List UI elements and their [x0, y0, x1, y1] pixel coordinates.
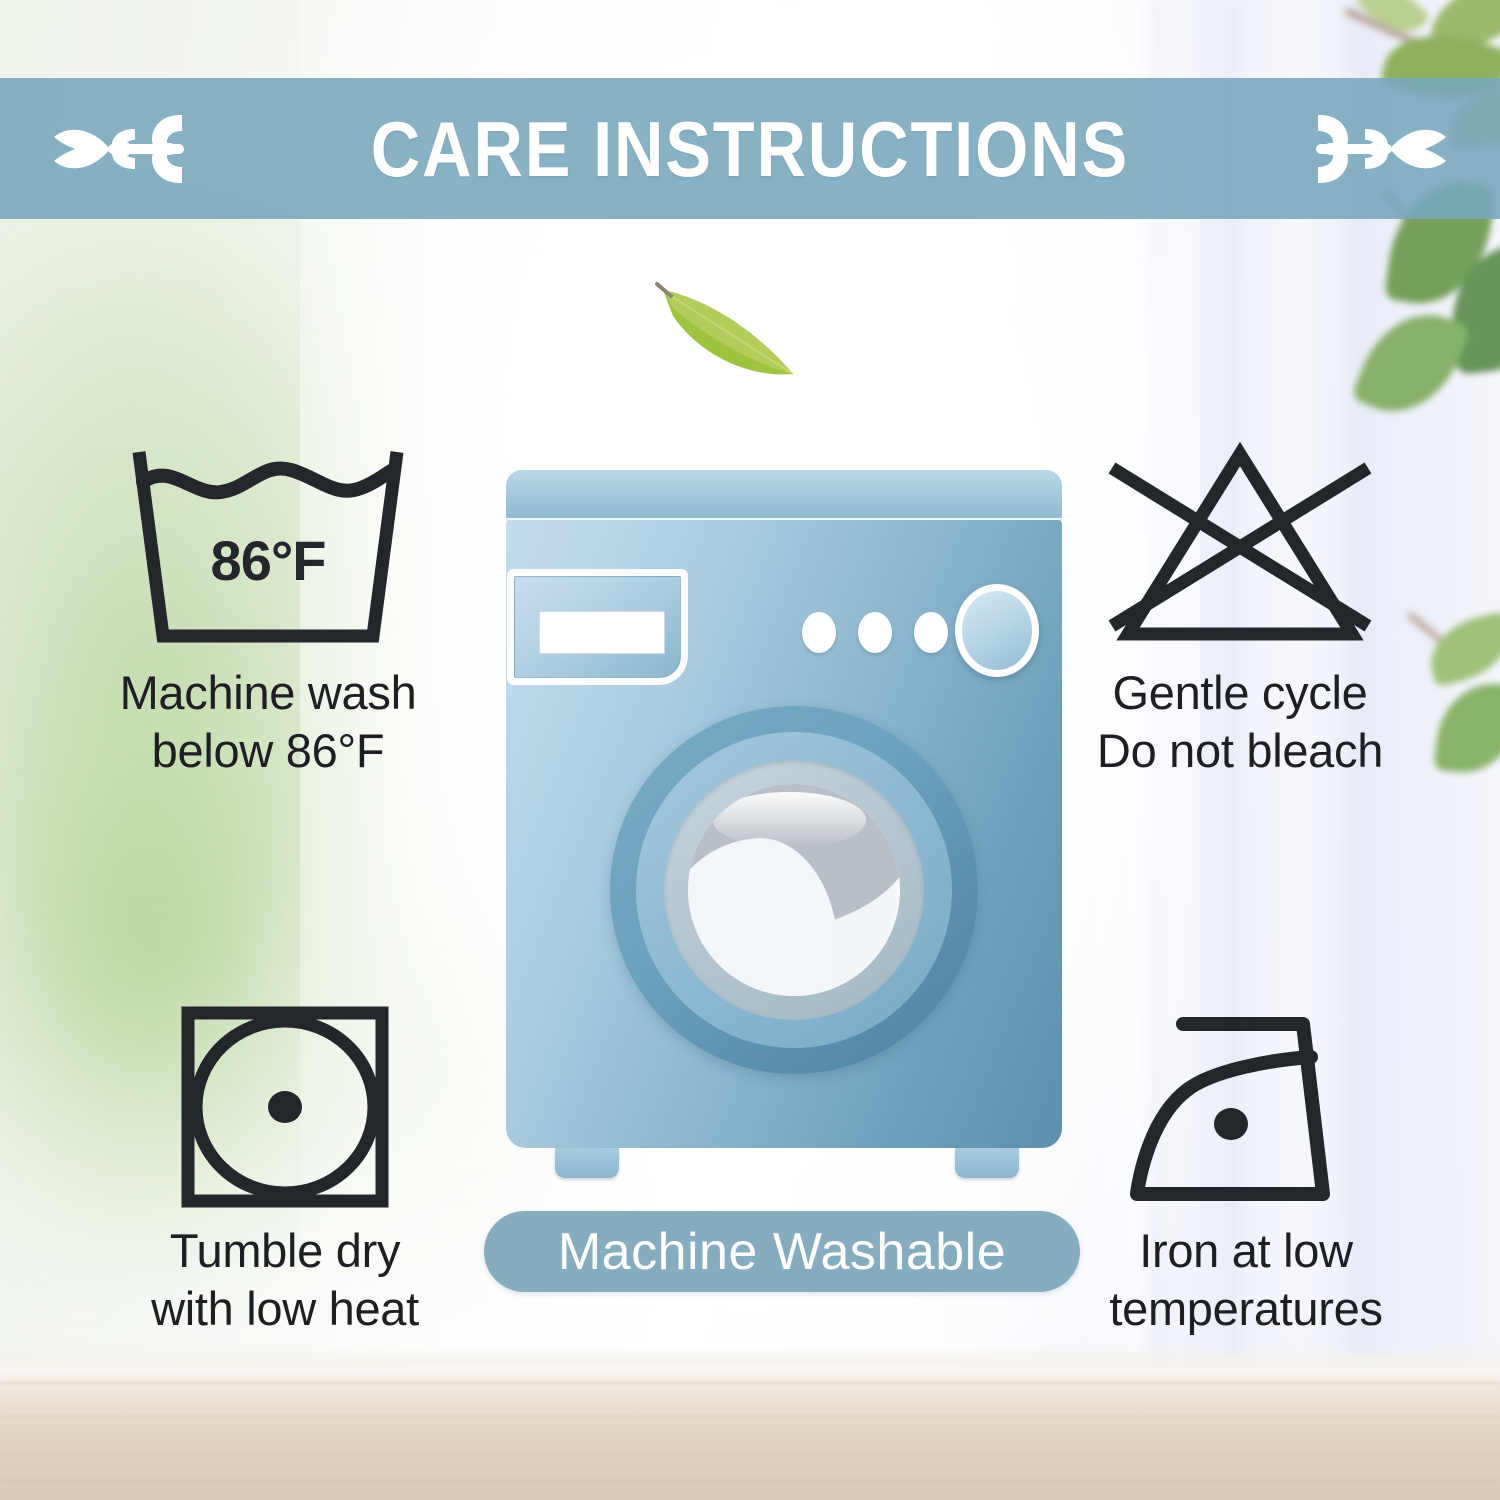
iron-one-dot-icon — [1006, 995, 1486, 1210]
detergent-drawer — [514, 576, 681, 678]
care-symbol-label-tumble-dry: Tumble dry with low heat — [45, 1222, 525, 1339]
indicator-light — [858, 612, 892, 653]
care-instructions-card: CARE INSTRUCTIONS 86°F — [0, 0, 1500, 1500]
door-ring-inner — [664, 760, 924, 1020]
wash-tub-icon: 86°F — [18, 430, 518, 650]
washer-top-lid — [506, 470, 1062, 520]
care-symbol-tumble-dry: Tumble dry with low heat — [45, 995, 525, 1339]
washer-body — [506, 520, 1062, 1148]
page-title: CARE INSTRUCTIONS — [371, 110, 1129, 188]
washer-foot-left — [555, 1148, 619, 1178]
machine-washable-badge: Machine Washable — [484, 1211, 1080, 1292]
tumble-dry-low-icon — [45, 995, 525, 1210]
counter-edge — [0, 1346, 1500, 1368]
floating-leaf-icon — [655, 282, 805, 387]
care-symbol-label-machine-wash: Machine wash below 86°F — [18, 664, 518, 781]
fleur-de-lis-icon-left — [48, 97, 198, 201]
detergent-drawer-slot — [539, 611, 665, 654]
indicator-light — [802, 612, 836, 653]
care-symbol-iron-low: Iron at low temperatures — [1006, 995, 1486, 1339]
machine-washable-badge-label: Machine Washable — [558, 1222, 1006, 1282]
indicator-lights — [802, 612, 948, 653]
washer-foot-right — [955, 1148, 1019, 1178]
glass-highlight — [713, 792, 866, 847]
header-banner: CARE INSTRUCTIONS — [0, 78, 1500, 219]
washing-machine-illustration — [500, 470, 1070, 1190]
program-dial-knob — [955, 584, 1039, 677]
door-glass — [688, 784, 900, 996]
door-ring-outer — [636, 732, 952, 1048]
indicator-light — [914, 612, 948, 653]
care-symbol-machine-wash: 86°F Machine wash below 86°F — [18, 430, 518, 781]
wash-temperature-value: 86°F — [211, 529, 326, 592]
fleur-de-lis-icon-right — [1302, 97, 1452, 201]
wood-counter-surface — [0, 1368, 1500, 1500]
washer-door — [610, 706, 978, 1074]
